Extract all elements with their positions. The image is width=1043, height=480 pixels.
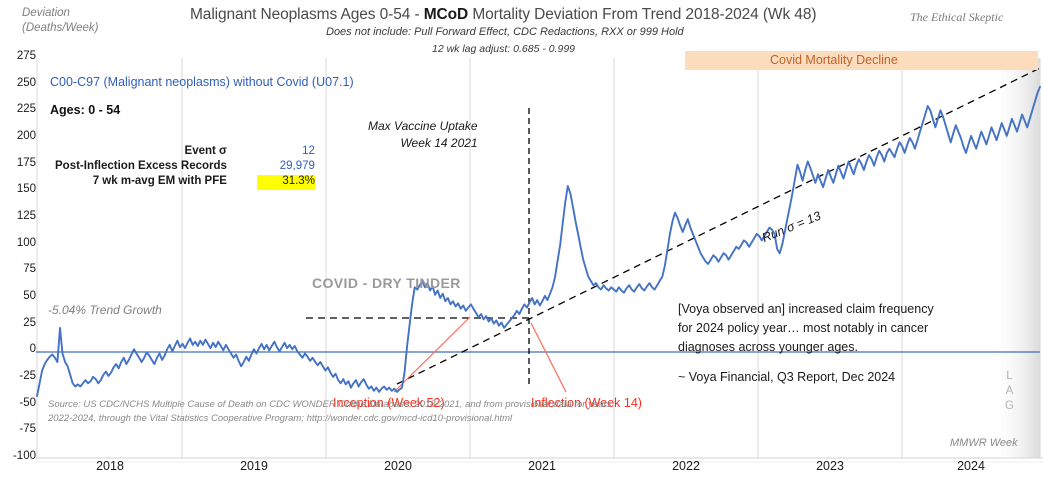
lag-letter: A (1005, 384, 1014, 399)
y-tick-125: 125 (0, 210, 36, 222)
x-tick-2023: 2023 (816, 459, 844, 473)
y-axis-tick-labels: 2752502252001751501251007550250-25-50-75… (0, 0, 36, 480)
subtitle-lag-adjust: 12 wk lag adjust: 0.685 - 0.999 (432, 43, 575, 55)
x-tick-2018: 2018 (96, 459, 124, 473)
stats-label: 7 wk m-avg EM with PFE (55, 175, 257, 190)
stats-value: 31.3% (257, 175, 315, 190)
stats-row: Event σ12 (55, 145, 315, 160)
voya-quote-line3: diagnoses across younger ages. (678, 338, 934, 357)
callout-leaders (394, 317, 566, 392)
page-title: Malignant Neoplasms Ages 0-54 - MCoD Mor… (190, 6, 816, 24)
y-tick-50: 50 (0, 290, 36, 302)
source-note: Source: US CDC/NCHS Multiple Cause of De… (48, 398, 611, 426)
y-tick-250: 250 (0, 77, 36, 89)
x-tick-2019: 2019 (240, 459, 268, 473)
lag-letter: L (1005, 369, 1014, 384)
covid-mortality-decline-label: Covid Mortality Decline (770, 53, 898, 67)
covid-dry-tinder-annotation: COVID - DRY TINDER (312, 275, 461, 291)
x-tick-2024: 2024 (957, 459, 985, 473)
max-vaccine-uptake-line2: Week 14 2021 (368, 135, 478, 152)
source-note-line2: 2022-2024, through the Vital Statistics … (48, 412, 611, 426)
lag-letter: G (1005, 399, 1014, 414)
legend-series-label: C00-C97 (Malignant neoplasms) without Co… (50, 75, 354, 89)
y-tick-275: 275 (0, 50, 36, 62)
subtitle-exclusions: Does not include: Pull Forward Effect, C… (326, 26, 684, 38)
stats-value: 29,979 (257, 160, 315, 175)
y-tick--75: -75 (0, 423, 36, 435)
lag-label: LAG (1005, 369, 1014, 414)
y-tick-25: 25 (0, 317, 36, 329)
y-tick--50: -50 (0, 397, 36, 409)
y-tick-150: 150 (0, 183, 36, 195)
title-bold: MCoD (424, 6, 468, 23)
y-axis-title-line1: Deviation (22, 6, 98, 21)
y-tick--100: -100 (0, 450, 36, 462)
stats-label: Event σ (55, 145, 257, 160)
y-tick-225: 225 (0, 103, 36, 115)
x-tick-2022: 2022 (672, 459, 700, 473)
y-tick-100: 100 (0, 237, 36, 249)
x-tick-2021: 2021 (528, 459, 556, 473)
stats-value: 12 (257, 145, 315, 160)
y-axis-title: Deviation (Deaths/Week) (22, 6, 98, 36)
y-tick-75: 75 (0, 263, 36, 275)
x-tick-2020: 2020 (384, 459, 412, 473)
voya-quote: [Voya observed an] increased claim frequ… (678, 300, 934, 357)
mmwr-week-label: MMWR Week (950, 437, 1018, 449)
title-pre: Malignant Neoplasms Ages 0-54 - (190, 6, 424, 23)
y-axis-title-line2: (Deaths/Week) (22, 21, 98, 36)
stats-table: Event σ12Post-Inflection Excess Records2… (55, 145, 315, 190)
max-vaccine-uptake-annotation: Max Vaccine Uptake Week 14 2021 (368, 118, 478, 152)
y-tick--25: -25 (0, 370, 36, 382)
y-tick-200: 200 (0, 130, 36, 142)
stats-label: Post-Inflection Excess Records (55, 160, 257, 175)
stats-row: Post-Inflection Excess Records29,979 (55, 160, 315, 175)
source-note-line1: Source: US CDC/NCHS Multiple Cause of De… (48, 398, 611, 412)
lag-fade-band (990, 58, 1040, 458)
voya-quote-line2: for 2024 policy year… most notably in ca… (678, 319, 934, 338)
legend-ages-label: Ages: 0 - 54 (50, 103, 120, 117)
stats-row: 7 wk m-avg EM with PFE31.3% (55, 175, 315, 190)
max-vaccine-uptake-line1: Max Vaccine Uptake (368, 118, 478, 135)
brand-watermark: The Ethical Skeptic (910, 10, 1003, 25)
y-tick-175: 175 (0, 157, 36, 169)
trend-growth-annotation: -5.04% Trend Growth (48, 303, 162, 317)
chart-page: 2752502252001751501251007550250-25-50-75… (0, 0, 1043, 480)
y-tick-0: 0 (0, 343, 36, 355)
voya-quote-source: ~ Voya Financial, Q3 Report, Dec 2024 (678, 370, 895, 384)
title-post: Mortality Deviation From Trend 2018-2024… (468, 6, 816, 23)
voya-quote-line1: [Voya observed an] increased claim frequ… (678, 300, 934, 319)
